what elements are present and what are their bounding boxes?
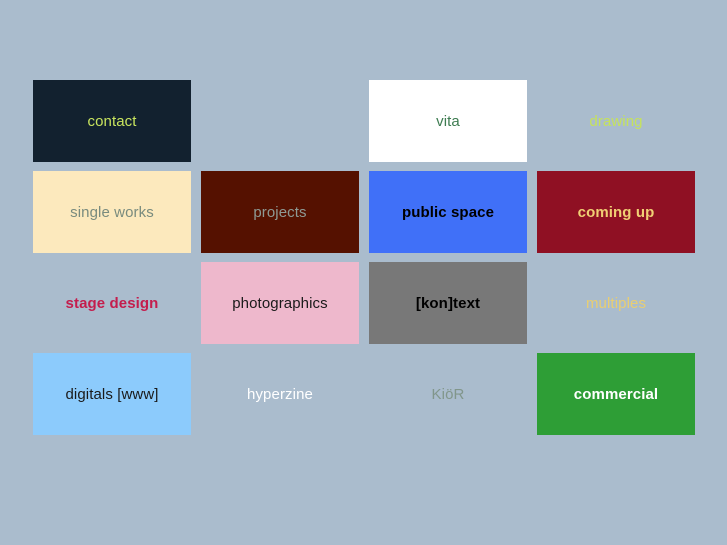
tile-label: single works (70, 205, 154, 220)
tile-label: stage design (66, 296, 159, 311)
page-root: contactvitadrawingsingle worksprojectspu… (0, 0, 727, 545)
tile-projects[interactable]: projects (201, 171, 359, 253)
tile-label: [kon]text (416, 296, 480, 311)
tile-public-space[interactable]: public space (369, 171, 527, 253)
tile-label: projects (253, 205, 306, 220)
tile-vita[interactable]: vita (369, 80, 527, 162)
tile-label: coming up (578, 205, 655, 220)
tile-single-works[interactable]: single works (33, 171, 191, 253)
tile-label: vita (436, 114, 460, 129)
tile-coming-up[interactable]: coming up (537, 171, 695, 253)
tile-label: multiples (586, 296, 646, 311)
tile-photographics[interactable]: photographics (201, 262, 359, 344)
tile-label: public space (402, 205, 494, 220)
tile-digitals-www[interactable]: digitals [www] (33, 353, 191, 435)
tile-empty-slot (201, 80, 359, 162)
tile-label: digitals [www] (65, 387, 158, 402)
tile-ki-r[interactable]: KiöR (369, 353, 527, 435)
tile-label: commercial (574, 387, 658, 402)
tile-commercial[interactable]: commercial (537, 353, 695, 435)
navigation-tile-grid: contactvitadrawingsingle worksprojectspu… (33, 80, 695, 436)
tile-label: contact (87, 114, 136, 129)
tile-drawing[interactable]: drawing (537, 80, 695, 162)
tile-label: hyperzine (247, 387, 313, 402)
tile-multiples[interactable]: multiples (537, 262, 695, 344)
tile-contact[interactable]: contact (33, 80, 191, 162)
tile-label: KiöR (432, 387, 465, 402)
tile-label: drawing (589, 114, 642, 129)
tile-kon-text[interactable]: [kon]text (369, 262, 527, 344)
tile-hyperzine[interactable]: hyperzine (201, 353, 359, 435)
tile-stage-design[interactable]: stage design (33, 262, 191, 344)
tile-label: photographics (232, 296, 328, 311)
